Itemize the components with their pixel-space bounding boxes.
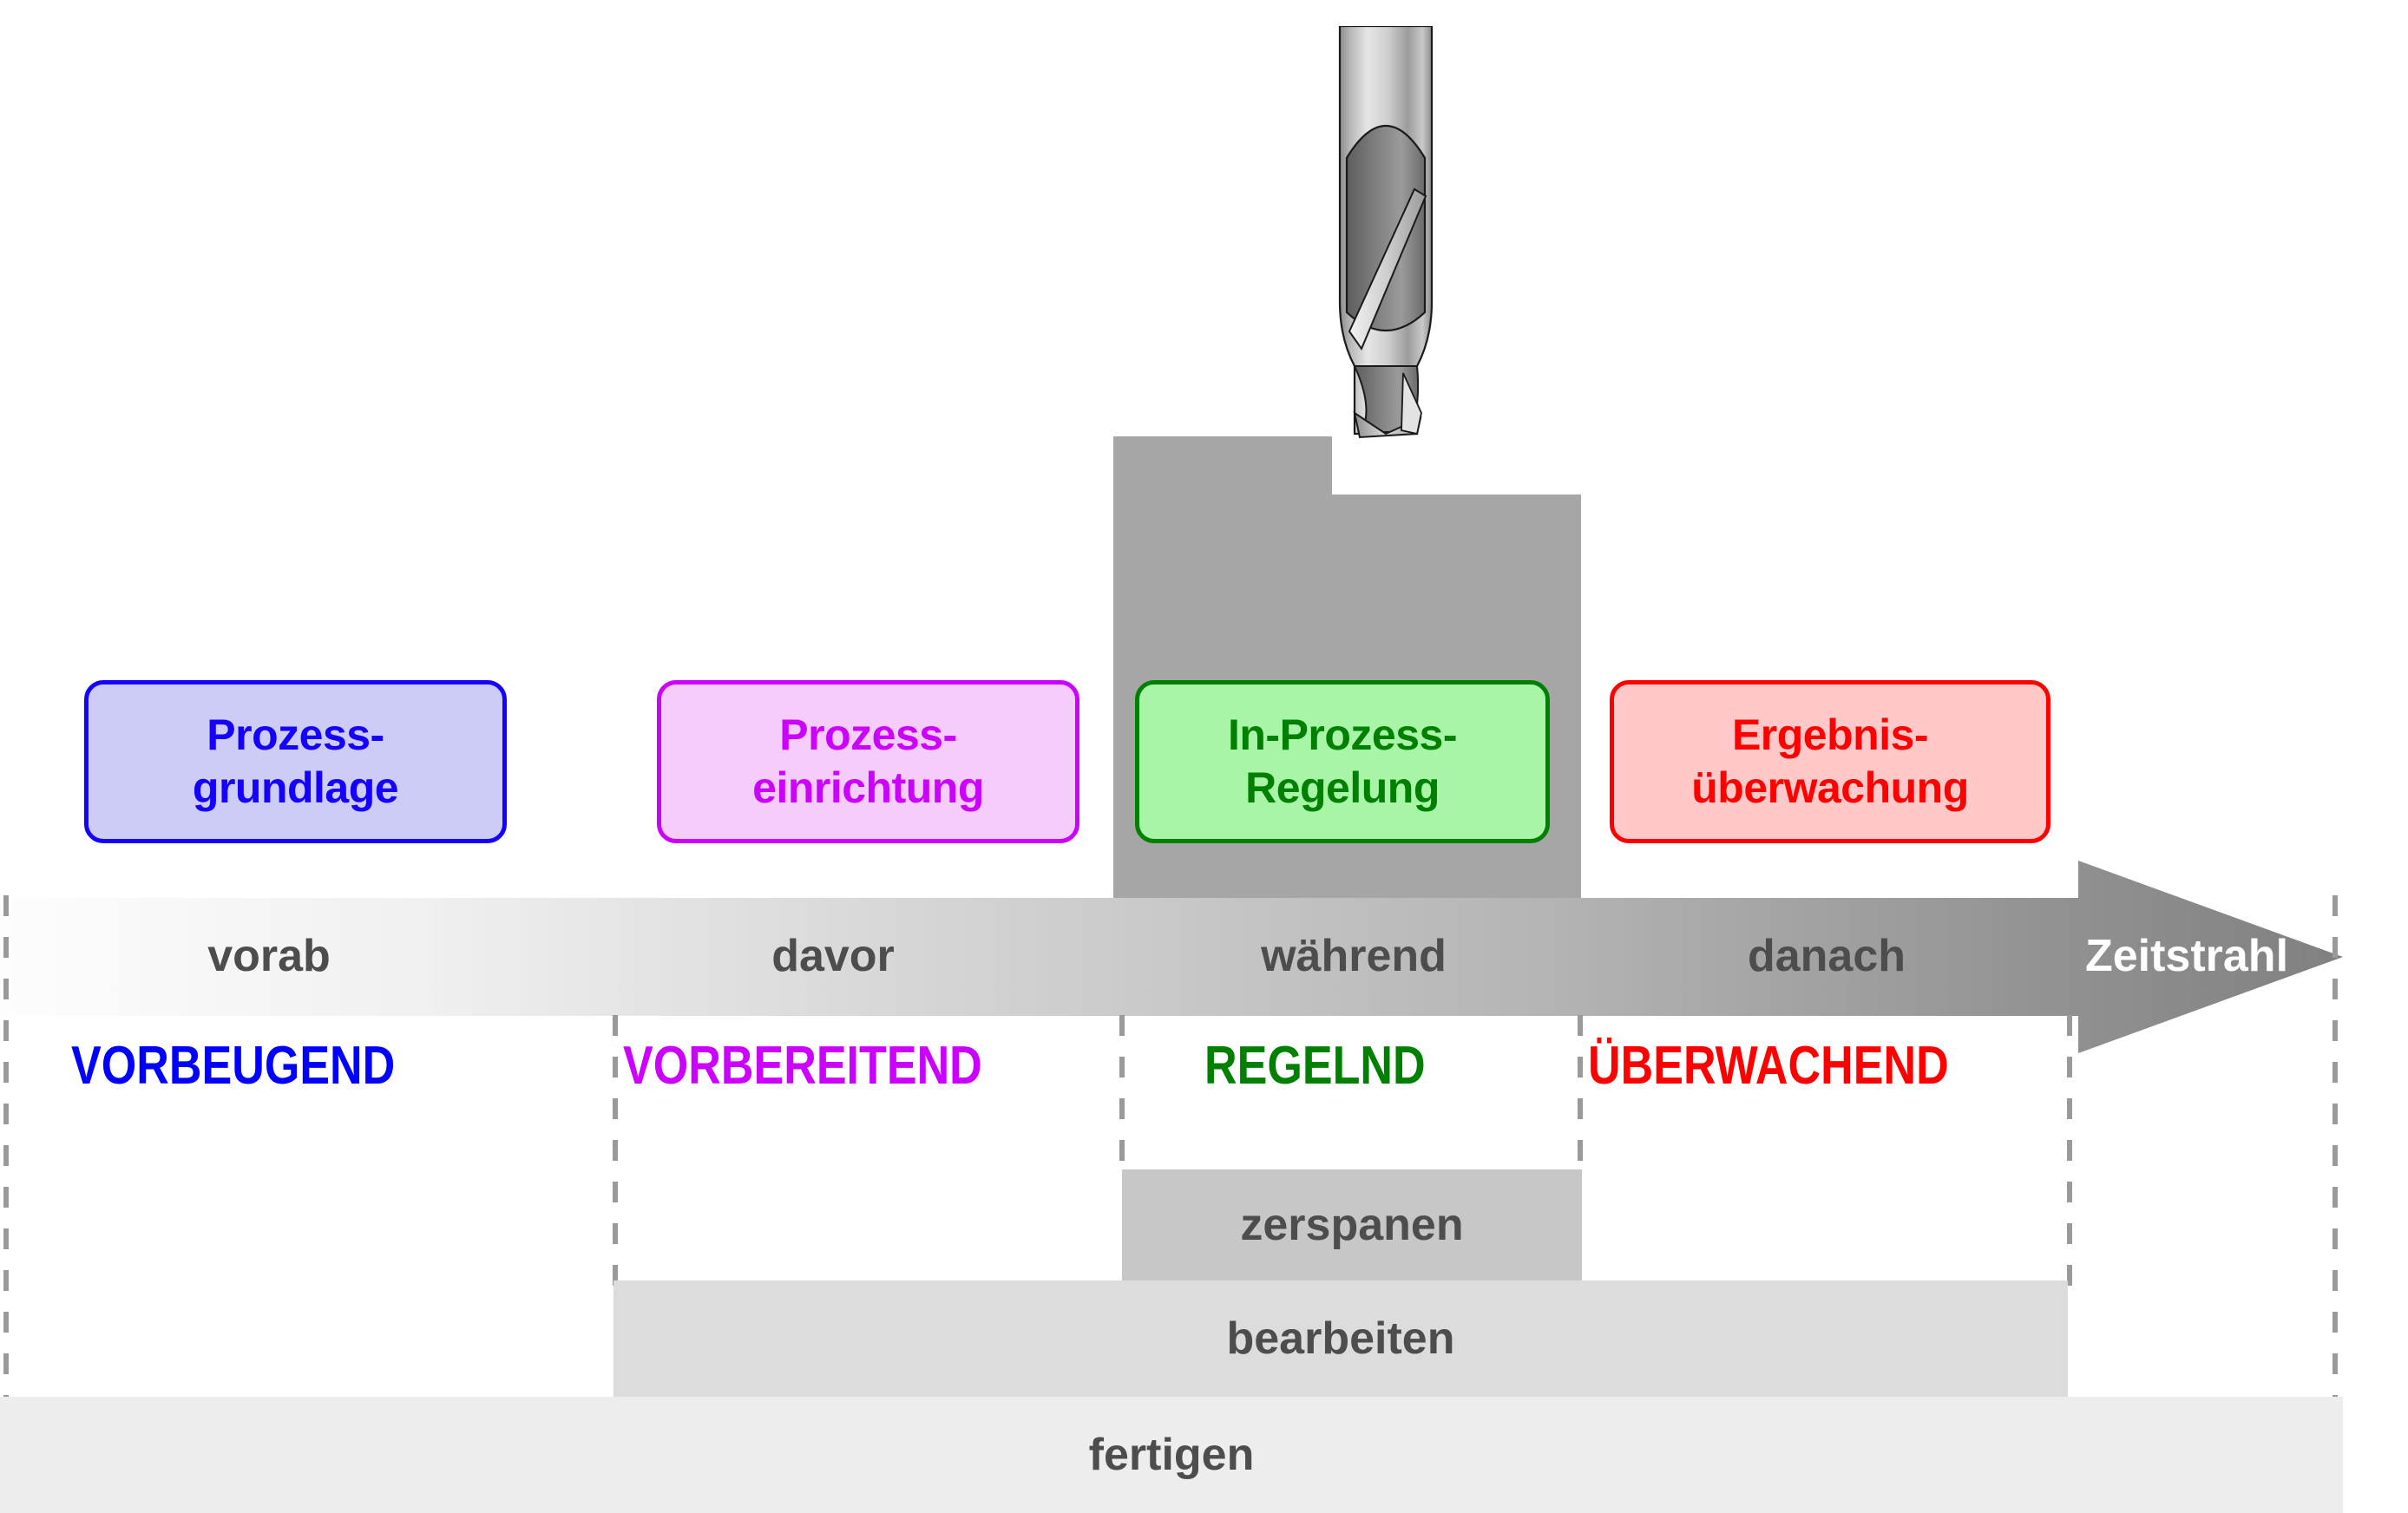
category-label-ueberwachend: ÜBERWACHEND — [1588, 1035, 1949, 1097]
timeline-stop-vorab: vorab — [0, 930, 538, 982]
divider-line-5 — [2333, 895, 2338, 1397]
timeline-axis-label: Zeitstrahl — [2044, 930, 2330, 982]
phase-box-ergebnisueberwachung[interactable]: Ergebnis- überwachung — [1610, 680, 2050, 843]
category-label-regelnd: REGELND — [1204, 1035, 1426, 1097]
milling-cutter-icon — [1299, 26, 1473, 460]
phase-box-line1: Prozess- — [752, 709, 984, 762]
divider-line-0 — [3, 895, 9, 1397]
divider-line-3 — [1578, 1015, 1583, 1176]
divider-line-1 — [613, 1015, 618, 1293]
phase-box-prozessgrundlage[interactable]: Prozess- grundlage — [84, 680, 507, 843]
category-label-vorbeugend: VORBEUGEND — [71, 1035, 395, 1097]
category-label-vorbereitend: VORBEREITEND — [623, 1035, 982, 1097]
phase-box-line1: Ergebnis- — [1691, 709, 1969, 762]
process-bar-fertigen: fertigen — [0, 1397, 2343, 1513]
timeline-stop-waehrend: während — [1128, 930, 1579, 982]
timeline-stop-danach: danach — [1579, 930, 2074, 982]
diagram-canvas: Prozess- grundlage Prozess- einrichtung … — [0, 0, 2408, 1513]
phase-box-in-prozess-regelung[interactable]: In-Prozess- Regelung — [1135, 680, 1550, 843]
phase-box-prozesseinrichtung[interactable]: Prozess- einrichtung — [657, 680, 1079, 843]
phase-box-line2: überwachung — [1691, 762, 1969, 815]
process-bar-bearbeiten: bearbeiten — [613, 1280, 2068, 1397]
phase-box-line2: grundlage — [193, 762, 398, 815]
divider-line-2 — [1119, 1015, 1125, 1176]
phase-box-line2: einrichtung — [752, 762, 984, 815]
phase-box-line2: Regelung — [1228, 762, 1457, 815]
process-bar-zerspanen: zerspanen — [1122, 1169, 1582, 1280]
divider-line-4 — [2067, 1015, 2072, 1293]
timeline-stop-davor: davor — [538, 930, 1128, 982]
phase-box-line1: Prozess- — [193, 709, 398, 762]
phase-box-line1: In-Prozess- — [1228, 709, 1457, 762]
